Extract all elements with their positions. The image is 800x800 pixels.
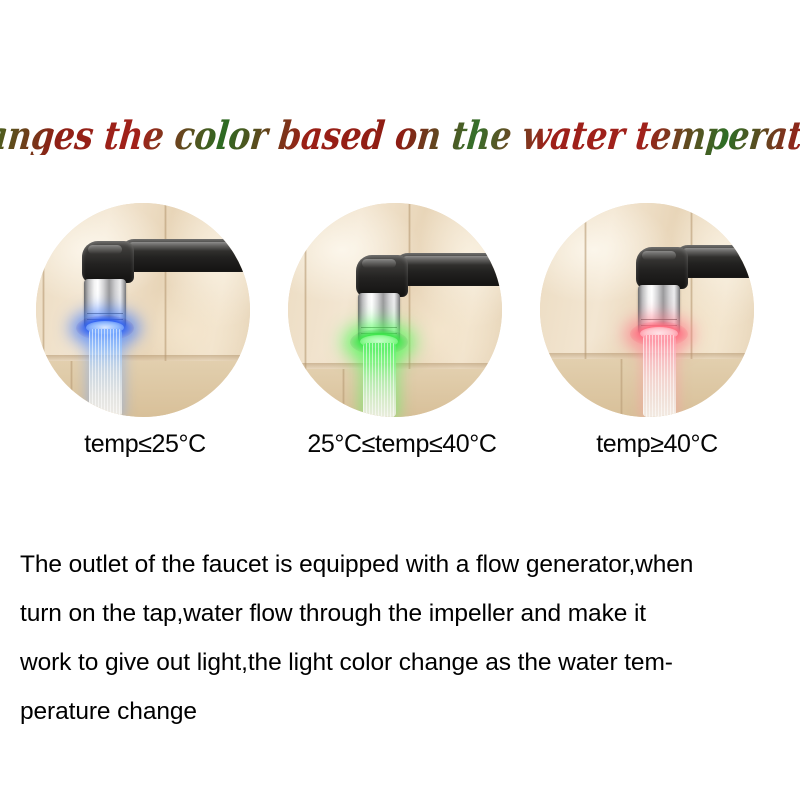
faucet-highlight: [682, 248, 754, 257]
faucet-arm: [394, 253, 502, 286]
faucet-highlight: [642, 251, 676, 260]
water-stream-red: [643, 335, 676, 417]
tile-seam: [620, 359, 623, 417]
faucet-arm: [120, 239, 250, 272]
water-stream-blue: [89, 329, 122, 417]
description-line-1: The outlet of the faucet is equipped wit…: [20, 540, 782, 589]
water-texture: [363, 343, 396, 417]
product-photo-cold: [36, 203, 250, 417]
aerator-groove: [87, 313, 122, 314]
water-texture: [89, 329, 122, 417]
faucet-highlight: [88, 245, 122, 254]
temperature-label-row: temp≤25°C 25°C≤temp≤40°C temp≥40°C: [0, 430, 800, 470]
temp-label-hot: temp≥40°C: [527, 430, 787, 459]
temp-label-cold: temp≤25°C: [15, 430, 275, 459]
product-photo-warm: [288, 203, 502, 417]
tile-seam: [342, 369, 345, 417]
faucet-elbow: [356, 255, 408, 297]
faucet-highlight: [402, 256, 502, 265]
product-photo-row: [0, 203, 800, 417]
product-photo-hot: [540, 203, 754, 417]
description-paragraph: The outlet of the faucet is equipped wit…: [20, 540, 782, 736]
tile-seam: [70, 361, 73, 417]
page-title: Changes the color based on the water tem…: [0, 116, 800, 155]
infographic-page: Changes the color based on the water tem…: [0, 0, 800, 800]
aerator-groove: [361, 327, 396, 328]
faucet-elbow: [82, 241, 134, 283]
temp-label-warm: 25°C≤temp≤40°C: [272, 430, 532, 459]
title-banner: Changes the color based on the water tem…: [0, 104, 800, 166]
description-line-4: perature change: [20, 687, 782, 736]
faucet-elbow: [636, 247, 688, 289]
faucet-highlight: [362, 259, 396, 268]
water-stream-green: [363, 343, 396, 417]
water-texture: [643, 335, 676, 417]
counter-face: [36, 361, 250, 417]
faucet-highlight: [128, 242, 250, 251]
description-line-2: turn on the tap,water flow through the i…: [20, 589, 782, 638]
description-line-3: work to give out light,the light color c…: [20, 638, 782, 687]
aerator-groove: [641, 319, 676, 320]
